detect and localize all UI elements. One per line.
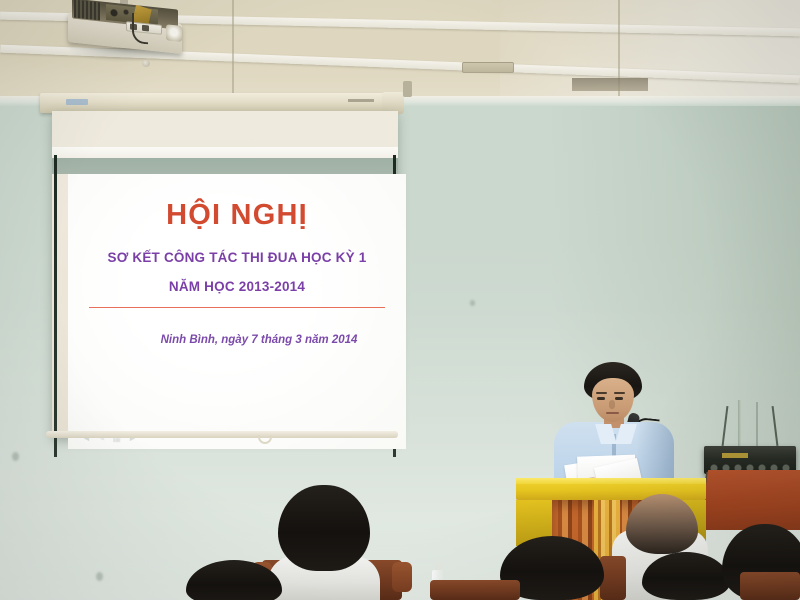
amplifier-badge	[722, 453, 748, 458]
audience-head	[278, 485, 370, 571]
presenter-eyebrow	[614, 392, 625, 394]
wall-blemish	[96, 572, 103, 581]
slide-date-line: Ninh Bình, ngày 7 tháng 3 năm 2014	[68, 334, 406, 346]
presenter-eyebrow	[596, 392, 607, 394]
screen-wall-bracket	[403, 81, 412, 97]
conference-photo-scene: HỘI NGHỊ SƠ KẾT CÔNG TÁC THI ĐUA HỌC KỲ …	[0, 0, 800, 600]
screen-white-band	[52, 147, 398, 158]
chair-back	[600, 556, 626, 600]
presenter-eye	[597, 397, 605, 400]
chair-arm	[392, 562, 412, 592]
side-desk	[700, 470, 800, 530]
screen-weight-bar	[46, 431, 398, 438]
audio-amplifier-icon	[704, 440, 796, 474]
screen-roller-marking	[348, 99, 374, 102]
chair-back	[430, 580, 520, 600]
slide-subtitle-line-2: NĂM HỌC 2013-2014	[68, 279, 406, 294]
presenter-nose	[609, 400, 615, 409]
projected-area-left-edge	[54, 155, 57, 457]
wall-blemish	[12, 452, 19, 461]
chair-back	[740, 572, 800, 600]
slide-subtitle-line-1: SƠ KẾT CÔNG TÁC THI ĐUA HỌC KỲ 1	[68, 250, 406, 265]
projected-slide: HỘI NGHỊ SƠ KẾT CÔNG TÁC THI ĐUA HỌC KỲ …	[68, 174, 406, 449]
ceiling-fixture-knob	[142, 60, 150, 67]
presenter-mouth	[606, 412, 619, 414]
screen-grey-band	[52, 158, 398, 174]
presenter-eye	[615, 397, 623, 400]
screen-roller-casing[interactable]	[40, 93, 398, 113]
screen-fabric: HỘI NGHỊ SƠ KẾT CÔNG TÁC THI ĐUA HỌC KỲ …	[52, 111, 398, 437]
ceiling-seam	[232, 0, 234, 104]
amplifier-body	[704, 446, 796, 474]
ceiling-panel-gap	[572, 78, 648, 91]
wall-blemish	[470, 300, 475, 306]
screen-brand-label	[66, 99, 88, 105]
projector-lens	[166, 24, 182, 42]
slide-divider-rule	[89, 307, 385, 308]
projector-vent	[74, 0, 100, 20]
podium-ledge-highlight	[516, 478, 706, 484]
ceiling-vent	[462, 62, 514, 73]
slide-title: HỘI NGHỊ	[68, 200, 406, 230]
ceiling-right-panel	[500, 0, 800, 104]
projection-screen: HỘI NGHỊ SƠ KẾT CÔNG TÁC THI ĐUA HỌC KỲ …	[40, 93, 412, 441]
